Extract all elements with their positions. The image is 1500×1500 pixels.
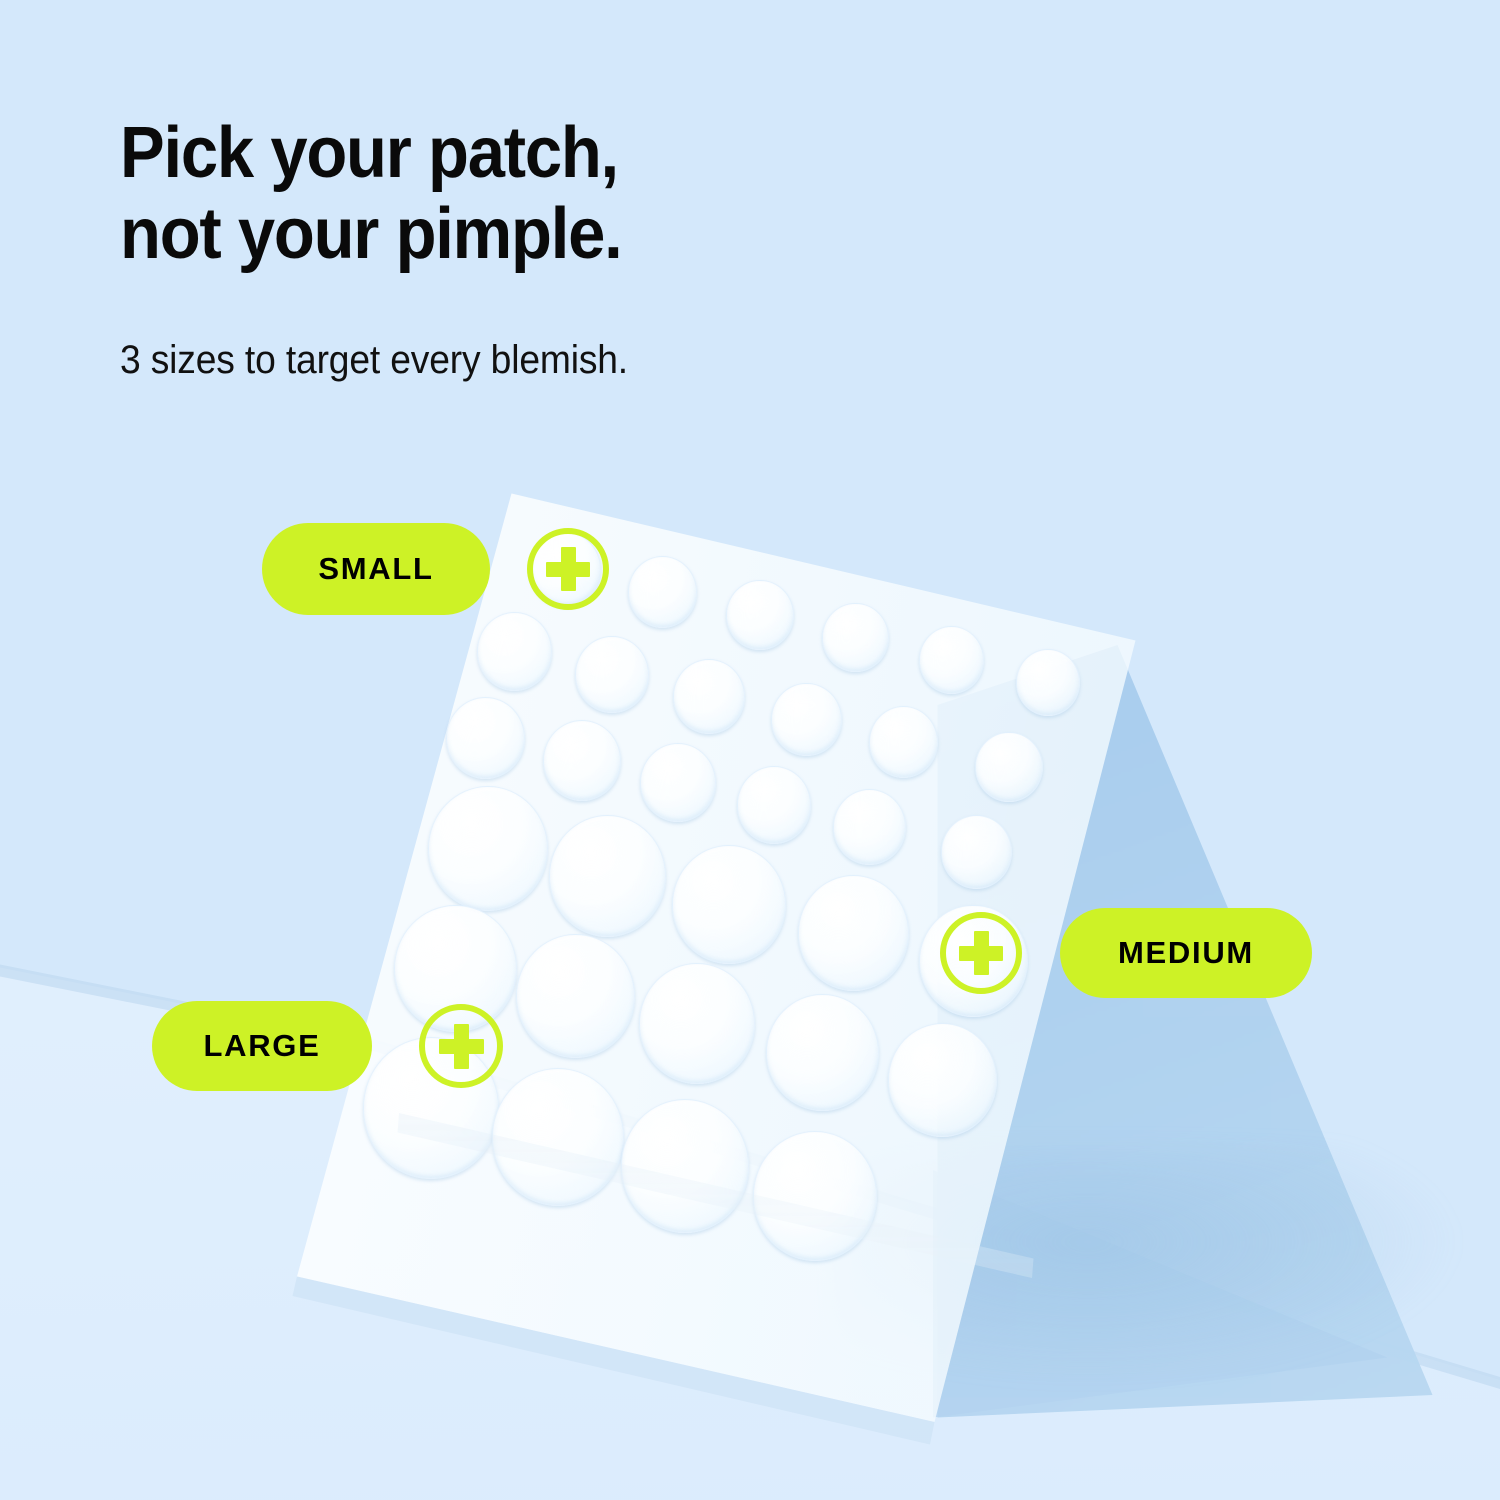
patch-dot xyxy=(543,720,621,801)
size-badge-large[interactable]: LARGE xyxy=(152,1001,372,1091)
size-badge-small-label: SMALL xyxy=(318,551,433,587)
patch-dot xyxy=(941,815,1012,889)
headline-line-2: not your pimple. xyxy=(120,194,622,275)
patch-dot xyxy=(672,845,786,964)
patch-dot xyxy=(639,963,755,1084)
plus-bar-vertical xyxy=(454,1024,469,1069)
plus-bar-vertical xyxy=(561,547,576,591)
size-badge-medium-label: MEDIUM xyxy=(1118,935,1254,971)
patch-dot xyxy=(771,683,842,757)
patch-dot xyxy=(726,580,794,651)
headline-line-1: Pick your patch, xyxy=(120,113,622,194)
patch-dot xyxy=(549,815,666,937)
patch-dot xyxy=(833,789,906,865)
patch-dot xyxy=(753,1131,878,1261)
patch-dot xyxy=(516,934,635,1058)
product-hero-image: SMALL MEDIUM LARGE Pick your patch, not … xyxy=(0,0,1500,1500)
patch-dot xyxy=(888,1023,998,1137)
patch-dot xyxy=(477,612,552,690)
patch-dot xyxy=(492,1068,624,1205)
page-title: Pick your patch, not your pimple. xyxy=(120,113,622,274)
patch-dot xyxy=(766,994,879,1111)
plus-bar-vertical xyxy=(974,931,989,975)
patch-dot xyxy=(822,603,889,672)
size-badge-large-label: LARGE xyxy=(203,1028,320,1064)
patch-dot xyxy=(575,636,649,713)
plus-circle-icon-medium[interactable] xyxy=(940,912,1022,994)
patch-dot xyxy=(428,786,548,911)
patch-dot xyxy=(798,875,909,990)
patch-dot xyxy=(737,766,812,844)
patch-dot xyxy=(1016,649,1080,715)
plus-circle-icon-small[interactable] xyxy=(527,528,609,610)
patch-dot xyxy=(621,1099,749,1233)
patch-dot xyxy=(975,732,1043,802)
patch-dot xyxy=(919,626,984,694)
size-badge-small[interactable]: SMALL xyxy=(262,523,490,615)
patch-dot xyxy=(628,556,697,628)
size-badge-medium[interactable]: MEDIUM xyxy=(1060,908,1312,998)
subtitle: 3 sizes to target every blemish. xyxy=(120,338,628,383)
plus-circle-icon-large[interactable] xyxy=(419,1004,503,1088)
patch-dot xyxy=(446,697,525,780)
